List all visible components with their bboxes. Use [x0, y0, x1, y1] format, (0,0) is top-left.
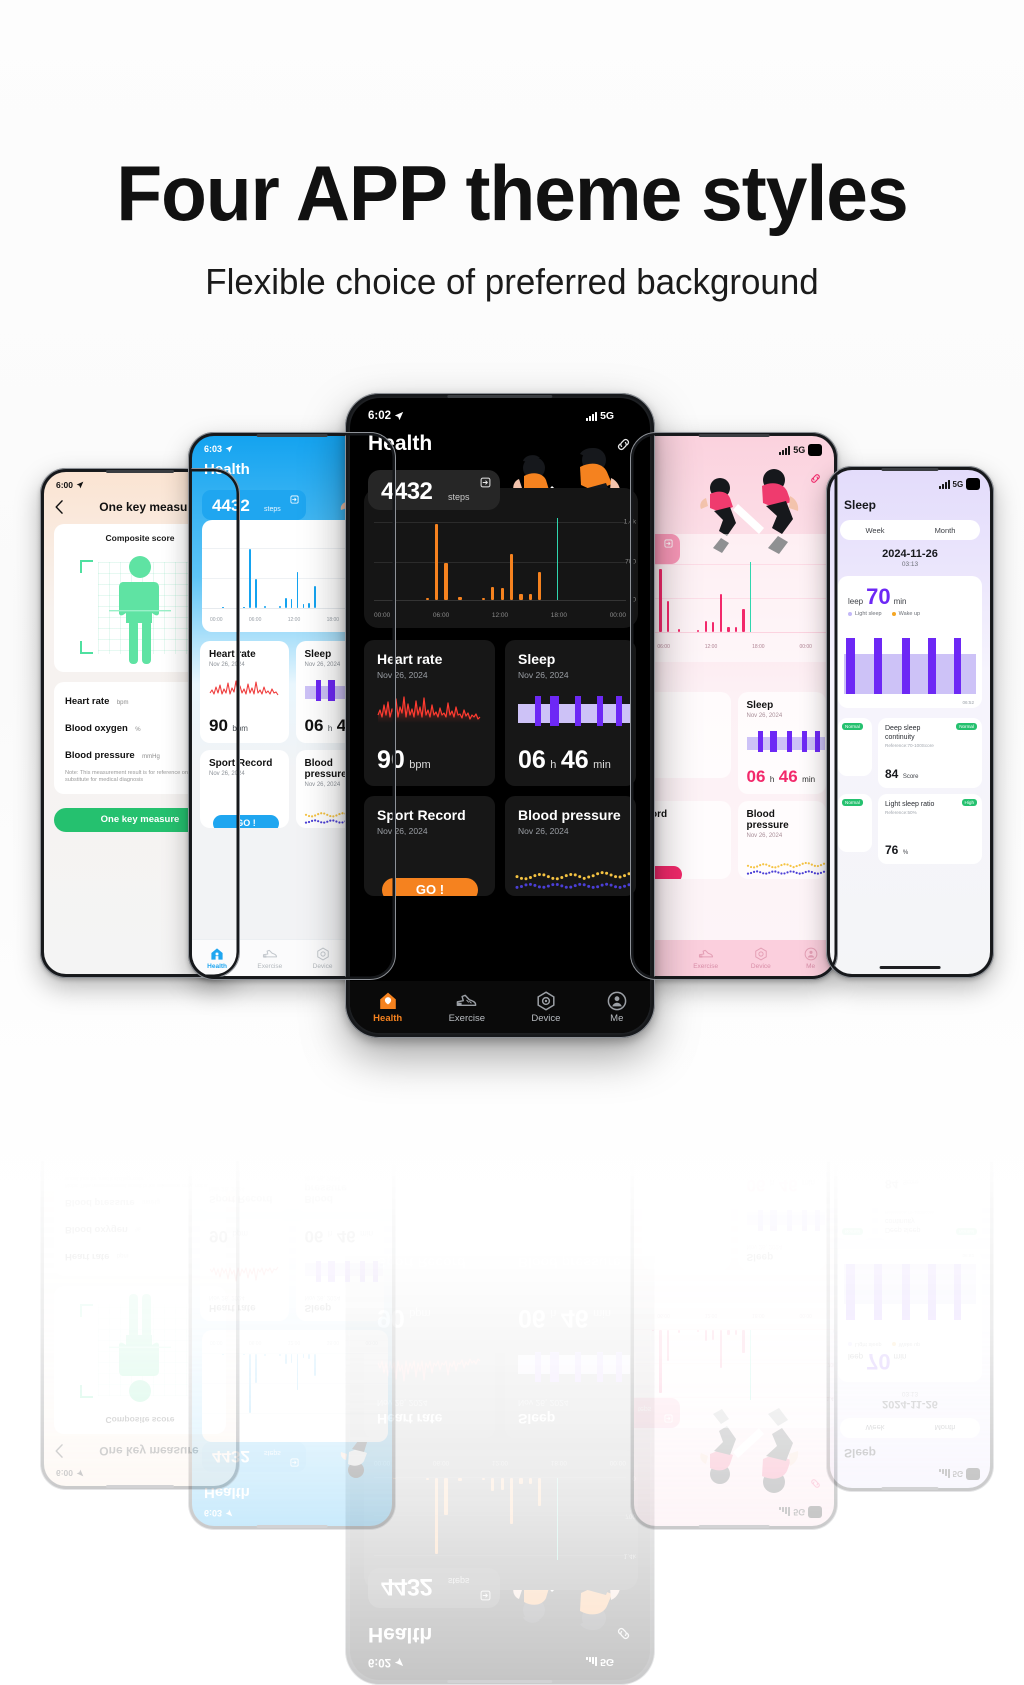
bp-dot [610, 1202, 613, 1205]
status-badge: Normal [842, 723, 863, 730]
card-unit-2: min [593, 759, 611, 771]
chart-bar [667, 601, 669, 632]
sleep-date: 2024-11-26 [830, 1398, 990, 1410]
chart-bar [735, 1330, 737, 1335]
bp-dot [810, 871, 812, 873]
steps-card[interactable]: 4432 steps [202, 490, 306, 520]
chart-x-labels: 00:0006:0012:0018:0000:00 [634, 1312, 812, 1318]
chart-bar [255, 579, 257, 608]
bp-dot [771, 1094, 773, 1096]
bp-dot [592, 874, 595, 877]
bp-dot [529, 1192, 532, 1195]
now-marker [750, 562, 751, 632]
bp-dot [556, 1198, 559, 1201]
network-label: 5G [953, 1470, 964, 1479]
phone-speaker [699, 434, 770, 437]
card-unit: h [328, 724, 332, 733]
bp-dot [601, 871, 604, 874]
nav-item-device: Device [531, 1055, 560, 1088]
bp-dot [547, 1190, 550, 1193]
chart-bar [735, 627, 737, 632]
legend-label: Wake up [899, 611, 921, 617]
signal-bars-icon [586, 1658, 597, 1667]
chart-x-tick: 12:00 [705, 1312, 718, 1318]
bp-dot [596, 1190, 599, 1193]
bp-dot [813, 872, 815, 874]
card-unit: bpm [409, 1307, 430, 1319]
status-bar: 6:02 5G 80 [350, 398, 650, 422]
go-button[interactable]: GO ! [213, 815, 279, 828]
person-icon [804, 947, 818, 961]
bp-dot [516, 1189, 519, 1192]
bp-dot [304, 814, 306, 816]
card-date: Nov 26, 2024 [305, 1174, 377, 1180]
card-title: Sleep [518, 1411, 625, 1427]
bp-dot [777, 1088, 779, 1090]
card-value: 06 [305, 1227, 324, 1246]
bp-dot [350, 1140, 352, 1142]
battery-indicator: 80 [617, 410, 632, 422]
chart-bar [303, 1354, 305, 1358]
chart-x-labels: 00:0006:0012:0018:0000:00 [374, 1459, 626, 1466]
bp-dot [353, 1146, 355, 1148]
go-button[interactable]: GO ! [382, 878, 478, 896]
sleep-stage-chart [844, 638, 976, 694]
card-title: ord [651, 1142, 723, 1153]
watch-icon [316, 947, 330, 961]
bp-dot [359, 1148, 361, 1150]
status-bar: 6:00 [44, 1468, 236, 1486]
phone-reflection: 6:00 One key measure Composite score [40, 980, 240, 1490]
watch-icon [754, 1002, 768, 1016]
bp-dot [777, 871, 779, 873]
battery-indicator: 80 [617, 1656, 632, 1668]
screen-one-key-measure: 6:00 One key measure Composite score [44, 984, 236, 1486]
bp-dot [520, 1198, 523, 1201]
status-right: 5G 80 [779, 1506, 822, 1518]
home-indicator [880, 966, 941, 969]
body-figure-icon [109, 554, 171, 666]
chart-bar [279, 606, 281, 608]
nav-item-exercise[interactable]: Exercise [693, 947, 718, 970]
chart-bar [249, 1354, 251, 1413]
card-date: Nov 26, 2024 [209, 662, 281, 668]
bp-dot [323, 1138, 325, 1140]
bp-dot [810, 1096, 812, 1098]
chain-link-icon [809, 1477, 822, 1490]
nav-item-exercise: Exercise [257, 993, 282, 1016]
nav-item-me[interactable]: Me [804, 947, 818, 970]
bp-dot [789, 1095, 791, 1097]
card-blood-pressure[interactable]: Blood pressure Nov 26, 2024 [738, 801, 827, 879]
chart-bar [249, 549, 251, 608]
card-sleep: Sleep Nov 26, 2024 06 h 46 min [296, 1219, 385, 1321]
legend-light-sleep: Light sleep [848, 611, 882, 617]
bp-dot [317, 1147, 319, 1149]
period-tabs: Week Month [840, 1418, 980, 1438]
chart-x-tick: 00:00 [210, 617, 223, 623]
card-title: Sport Record [209, 758, 281, 769]
steps-card[interactable]: 4432 steps [368, 470, 500, 510]
bp-dot [819, 872, 821, 874]
tab-week[interactable]: Week [840, 526, 910, 535]
card-date: Nov 26, 2024 [377, 826, 484, 836]
bp-dot [749, 866, 751, 868]
bp-dot [551, 1192, 554, 1195]
status-badge: Normal [842, 1152, 863, 1159]
bp-dot [338, 813, 340, 815]
bp-dots-icon [746, 1085, 826, 1101]
bp-dot [368, 1140, 370, 1142]
bp-dot [565, 1201, 568, 1204]
phone-sleep-detail: 5G 81 Sleep Week Month 2024-11-26 03:13 … [826, 466, 994, 978]
bp-dot [746, 865, 748, 867]
card-blood-pressure[interactable]: Blood pressure Nov 26, 2024 [505, 796, 636, 896]
phone-showcase: 6:02 5G 80 Health [0, 0, 1024, 1209]
bp-dot [756, 1094, 758, 1096]
chart-bar [727, 1330, 729, 1335]
card-value: 90 [377, 746, 405, 774]
chart-axis-label: 06:52 [963, 1253, 975, 1258]
chart-x-tick: 12:00 [288, 1339, 301, 1345]
screen-title: Sleep [830, 1446, 990, 1468]
measurement-note: Note: This measurement result is for ref… [65, 1173, 215, 1188]
nav-item-device[interactable]: Device [531, 991, 560, 1024]
chain-link-icon[interactable] [809, 472, 822, 485]
status-bar: 5G 81 [830, 470, 990, 490]
steps-unit: steps [448, 492, 470, 502]
bp-dot [813, 1095, 815, 1097]
back-chevron-icon [54, 1444, 64, 1458]
status-time: 6:02 [368, 1656, 391, 1668]
bp-dot [350, 1145, 352, 1147]
bp-dot [332, 1145, 334, 1147]
status-badge: Normal [842, 799, 863, 806]
card-sleep: Sleep Nov 26, 2024 06 h 46 min [738, 1168, 827, 1270]
bp-dot [335, 1139, 337, 1141]
nav-label: Me [610, 1055, 623, 1066]
status-left: 6:00 [56, 1468, 84, 1478]
nav-item-device[interactable]: Device [313, 947, 333, 970]
bp-dot [822, 1097, 824, 1099]
watch-icon [536, 991, 556, 1011]
bp-dot [795, 1095, 797, 1097]
scan-corner-tl [80, 1385, 93, 1398]
summary-cards: Heart rate Nov 26, 2024 90 [350, 628, 650, 896]
bp-dot [307, 1145, 309, 1147]
nav-item-exercise[interactable]: Exercise [257, 947, 282, 970]
bp-dot [774, 870, 776, 872]
nav-label: Device [531, 1055, 560, 1066]
shoe-icon [455, 1068, 478, 1088]
card-date: Nov 26, 2024 [518, 1242, 625, 1252]
chart-gridline [374, 600, 626, 601]
chart-y-label: 700 [625, 559, 636, 566]
metric-card-side[interactable]: Normal [838, 794, 872, 852]
export-box-icon[interactable] [480, 477, 491, 488]
sleep-bars-icon [747, 1210, 825, 1232]
bp-dot [551, 877, 554, 880]
chart-y-label: 1.4k [624, 519, 636, 526]
bp-dot [524, 877, 527, 880]
nav-item-device[interactable]: Device [751, 947, 771, 970]
bp-dot [578, 875, 581, 878]
chart-x-tick: 18:00 [327, 1339, 340, 1345]
sleep-summary-prefix: leep [848, 1352, 863, 1361]
card-unit-2: min [802, 775, 815, 784]
chart-bar [491, 587, 494, 600]
chart-x-tick: 12:00 [492, 1459, 508, 1466]
bp-dot [347, 1140, 349, 1142]
phone-reflection: 5G 80 [630, 982, 838, 1530]
export-box-icon[interactable] [290, 495, 299, 504]
bp-dot [341, 812, 343, 814]
bp-dot [601, 1204, 604, 1207]
bp-dot [323, 1147, 325, 1149]
nav-item-me[interactable]: Me [607, 991, 627, 1024]
body-figure-icon [109, 1292, 171, 1404]
bp-dot [529, 883, 532, 886]
chart-bar [538, 1478, 541, 1506]
bp-dot [789, 1089, 791, 1091]
chart-bar [727, 627, 729, 632]
sleep-summary-value: 70 [866, 1348, 890, 1374]
bp-dot [789, 865, 791, 867]
bp-dot [314, 819, 316, 821]
card-value: 90 [209, 716, 228, 735]
bp-dot [524, 1192, 527, 1195]
chart-x-tick: 00:00 [610, 612, 626, 619]
bp-dot [560, 1191, 563, 1194]
card-heart-rate-partial[interactable] [642, 692, 731, 778]
chart-bar [510, 554, 513, 600]
metric-card-side[interactable]: Normal [838, 718, 872, 776]
bp-dot [762, 1088, 764, 1090]
chart-bar [285, 598, 287, 609]
chain-link-icon[interactable] [615, 436, 632, 453]
metric-card-side: Normal [838, 1182, 872, 1240]
bp-dot [798, 1087, 800, 1089]
card-heart-rate[interactable]: Heart rate Nov 26, 2024 90 bpm [200, 641, 289, 743]
metric-card-deep-sleep[interactable]: Normal Deep sleep continuity Reference:7… [878, 718, 982, 788]
chart-bar [458, 597, 461, 600]
bp-dot [813, 1088, 815, 1090]
bp-dot [792, 1089, 794, 1091]
bp-dot [610, 873, 613, 876]
bp-dot [795, 1088, 797, 1090]
bp-dot [332, 1140, 334, 1142]
chart-bar [426, 598, 429, 600]
legend-wake-up: Wake up [892, 1341, 921, 1347]
bp-dot [542, 886, 545, 889]
bp-dot [560, 876, 563, 879]
bp-dot [819, 1096, 821, 1098]
card-title: Blood pressure [747, 1131, 819, 1153]
chart-x-tick: 12:00 [288, 617, 301, 623]
chain-link-icon [615, 1626, 632, 1643]
bp-dot [533, 884, 536, 887]
location-arrow-icon [76, 481, 84, 489]
bp-dot [780, 1087, 782, 1089]
bp-dot [792, 866, 794, 868]
bp-dot [596, 872, 599, 875]
bp-dot [326, 821, 328, 823]
chart-bar [491, 1478, 494, 1491]
chart-bar [297, 1354, 299, 1390]
bp-dot [587, 1190, 590, 1193]
nav-item-health[interactable]: Health [373, 991, 402, 1024]
bp-dot [307, 1139, 309, 1141]
bottom-nav: Health Exercise Device Me [350, 981, 650, 1033]
nav-label: Exercise [449, 1013, 485, 1024]
bp-dot [323, 821, 325, 823]
bp-dot [762, 863, 764, 865]
chart-bars [634, 1330, 812, 1398]
bp-dot [326, 1146, 328, 1148]
shoe-icon [262, 947, 278, 961]
bp-dot [783, 872, 785, 874]
chart-bar [697, 630, 699, 632]
nav-label: Exercise [257, 993, 282, 1000]
card-heart-rate[interactable]: Heart rate Nov 26, 2024 90 [364, 640, 495, 786]
chart-bar [720, 1330, 722, 1368]
bp-dot [749, 1088, 751, 1090]
chart-bar [393, 599, 396, 600]
status-bar: 6:03 [192, 1508, 392, 1526]
chart-bar [705, 621, 707, 632]
chart-bar [308, 603, 310, 608]
card-sport-record-partial: ord [642, 1083, 731, 1161]
bp-dot [816, 1087, 818, 1089]
bp-dot [596, 1203, 599, 1206]
chart-bar [444, 563, 447, 600]
metric-label: Blood pressure [65, 1197, 135, 1208]
bp-dot [774, 1089, 776, 1091]
bp-dot [542, 1189, 545, 1192]
bp-dot [786, 871, 788, 873]
card-title: Blood pressure [518, 807, 625, 823]
card-sleep[interactable]: Sleep Nov 26, 2024 06 h 46 min [738, 692, 827, 794]
phone-speaker [257, 434, 328, 437]
bp-dot [592, 886, 595, 889]
nav-label: Device [751, 963, 771, 970]
chart-x-tick: 00:00 [799, 1312, 812, 1318]
bp-dot [623, 1201, 626, 1204]
phone-speaker [106, 1486, 174, 1489]
legend-label: Light sleep [855, 611, 882, 617]
export-box-icon [290, 1458, 299, 1467]
metric-value: 76 [885, 1101, 898, 1115]
bp-dot [304, 1146, 306, 1148]
bp-dot [798, 1096, 800, 1098]
scan-corner-bl [80, 1304, 93, 1317]
location-arrow-icon [76, 1469, 84, 1477]
status-left: 6:00 [56, 480, 84, 490]
chart-bar [303, 604, 305, 608]
card-sport-record-partial[interactable]: ord [642, 801, 731, 879]
bp-dot [771, 866, 773, 868]
shoe-icon [455, 991, 478, 1011]
nav-item-health[interactable]: Health [207, 947, 227, 970]
battery-indicator: 81 [966, 1468, 980, 1480]
composite-score-card: Composite score [54, 1286, 226, 1434]
network-label: 5G [600, 410, 614, 422]
bp-dot [329, 820, 331, 822]
metrics-card: Heart rate bpm Blood oxygen % Blood pres… [54, 1164, 226, 1276]
card-date: Nov 26, 2024 [518, 1398, 625, 1408]
card-value-2: 46 [561, 1304, 589, 1332]
metric-unit: Score [903, 1178, 919, 1184]
bp-dot [574, 884, 577, 887]
chart-x-tick: 18:00 [551, 612, 567, 619]
status-bar: 6:02 5G 80 [350, 1656, 650, 1680]
bp-dot [810, 864, 812, 866]
bp-dot [377, 1139, 379, 1141]
card-sport-record[interactable]: Sport Record Nov 26, 2024 GO ! [200, 750, 289, 828]
bp-dot [605, 883, 608, 886]
sleep-bars-icon [518, 1352, 630, 1382]
legend-dot [848, 612, 852, 616]
steps-unit: steps [448, 1576, 470, 1586]
metric-card-light-sleep[interactable]: High Light sleep ratio Reference:50% 76 … [878, 794, 982, 864]
metric-row: Blood pressure mmHg [65, 1195, 215, 1213]
bp-dot [786, 863, 788, 865]
status-bar: 5G 81 [830, 1468, 990, 1488]
tab-month[interactable]: Month [910, 526, 980, 535]
bp-dot [628, 872, 631, 875]
bp-dot [556, 883, 559, 886]
bp-dot [338, 1147, 340, 1149]
chart-bar [291, 1354, 293, 1363]
legend-light-sleep: Light sleep [848, 1341, 882, 1347]
bp-dot [356, 1147, 358, 1149]
card-title: Sleep [305, 1302, 377, 1313]
bp-dot [362, 1149, 364, 1151]
bp-dot [749, 872, 751, 874]
bp-dot [801, 1088, 803, 1090]
bp-dot [565, 886, 568, 889]
network-label: 5G [793, 445, 805, 455]
bp-dot [574, 1202, 577, 1205]
chart-bar [659, 569, 661, 632]
person-icon [607, 991, 627, 1011]
bp-dot [338, 1138, 340, 1140]
bp-dot [329, 815, 331, 817]
bp-dot [619, 1189, 622, 1192]
bp-dot [619, 875, 622, 878]
back-chevron-icon[interactable] [54, 500, 64, 514]
metric-unit: % [903, 1102, 908, 1108]
card-sport-record[interactable]: Sport Record Nov 26, 2024 GO ! [364, 796, 495, 896]
bp-dot [569, 873, 572, 876]
chart-x-tick: 00:00 [374, 612, 390, 619]
scan-corner-tl [80, 560, 93, 573]
now-marker [557, 518, 558, 600]
bp-dot [583, 1198, 586, 1201]
bp-dot [762, 872, 764, 874]
sleep-time: 03:13 [830, 1390, 990, 1397]
bp-dot [783, 1097, 785, 1099]
nav-item-exercise[interactable]: Exercise [449, 991, 485, 1024]
card-date: Nov 26, 2024 [518, 826, 625, 836]
bp-dot [816, 865, 818, 867]
bp-dot [807, 862, 809, 864]
card-sleep[interactable]: Sleep Nov 26, 2024 06 h 46 min [505, 640, 636, 786]
bp-dot [578, 883, 581, 886]
bp-dot [765, 872, 767, 874]
card-unit: h [550, 1307, 556, 1319]
status-right: 5G 80 [779, 444, 822, 456]
